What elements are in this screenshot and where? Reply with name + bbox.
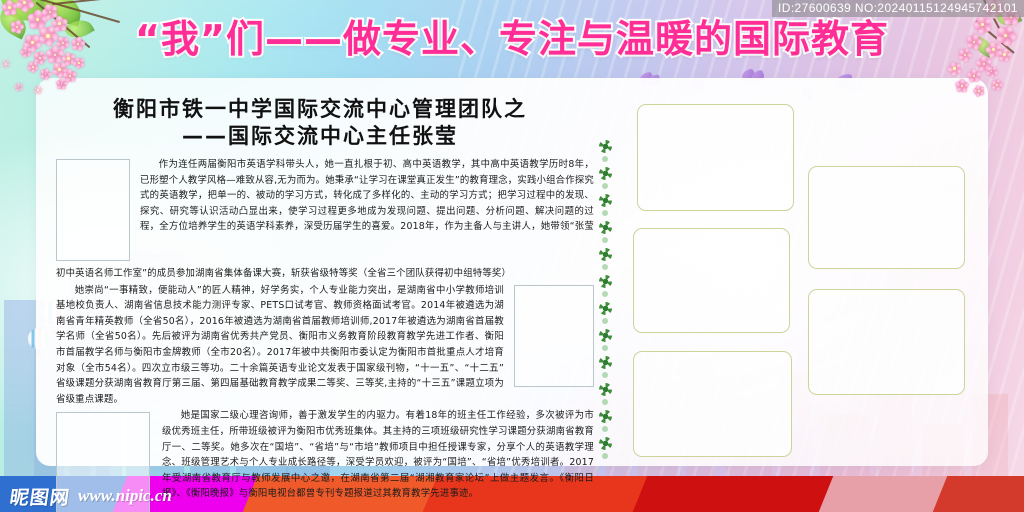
poster-canvas: “我”们——做专业、专注与温暖的国际教育 衡阳市铁一中学国际交流中心管理团队之 … [0, 0, 1024, 512]
flower-vine-divider [597, 140, 615, 470]
photo-frame-5[interactable] [633, 351, 792, 457]
leaf-dot-icon [602, 399, 608, 405]
flower-icon [599, 383, 612, 396]
flower-icon [599, 140, 612, 153]
leaf-dot-icon [602, 426, 608, 432]
leaf-dot-icon [602, 372, 608, 378]
flower-icon [599, 410, 612, 423]
photo-slot-inline-1 [56, 159, 130, 261]
article-body: 作为连任两届衡阳市英语学科带头人，她一直扎根于初、高中英语教学，其中高中英语教学… [56, 157, 594, 467]
page-title: 衡阳市铁一中学国际交流中心管理团队之 ——国际交流中心主任张莹 [40, 96, 600, 150]
flower-icon [599, 248, 612, 261]
leaf-dot-icon [602, 156, 608, 162]
flower-icon [599, 437, 612, 450]
flower-icon [599, 167, 612, 180]
leaf-dot-icon [602, 264, 608, 270]
leaf-dot-icon [602, 318, 608, 324]
leaf-dot-icon [602, 291, 608, 297]
flower-icon [599, 356, 612, 369]
flower-icon [599, 302, 612, 315]
watermark-id-text: ID:27600639 NO:20240115124945742101 [772, 0, 1024, 17]
watermark-url: www.nipic.cn [78, 486, 172, 506]
photo-frame-1[interactable] [637, 104, 794, 211]
photo-frame-4[interactable] [808, 289, 965, 395]
photo-frame-3[interactable] [633, 228, 790, 333]
article-paragraph: 作为连任两届衡阳市英语学科带头人，她一直扎根于初、高中英语教学，其中高中英语教学… [56, 157, 594, 282]
leaf-dot-icon [602, 453, 608, 459]
leaf-dot-icon [602, 183, 608, 189]
page-title-line2: ——国际交流中心主任张莹 [40, 123, 600, 150]
flower-icon [599, 329, 612, 342]
flower-icon [599, 194, 612, 207]
leaf-dot-icon [602, 345, 608, 351]
watermark-logo: 昵图网 [8, 483, 72, 510]
watermark-bar: 昵图网 www.nipic.cn [0, 480, 1024, 512]
flower-icon [599, 275, 612, 288]
leaf-dot-icon [602, 237, 608, 243]
photo-frame-2[interactable] [808, 166, 965, 269]
flower-icon [599, 221, 612, 234]
page-title-line1: 衡阳市铁一中学国际交流中心管理团队之 [113, 97, 527, 121]
photo-slot-inline-2 [514, 285, 594, 387]
leaf-dot-icon [602, 210, 608, 216]
